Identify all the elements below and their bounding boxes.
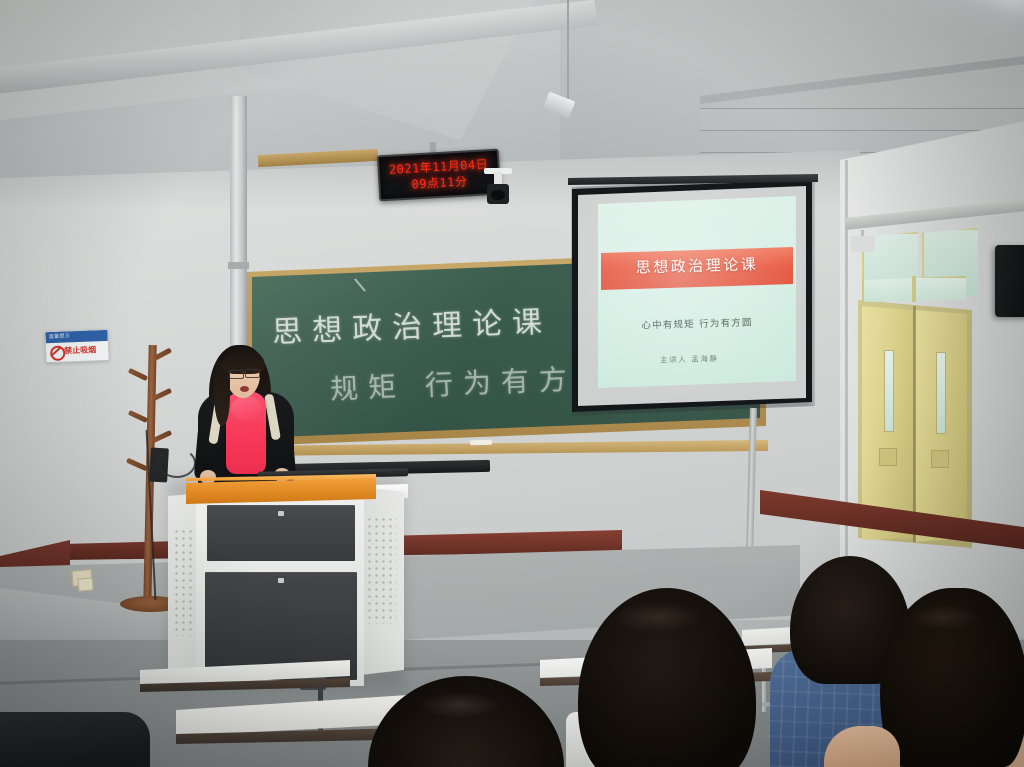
door-glass-right <box>936 352 946 434</box>
lecturer-glasses-bridge <box>242 372 246 373</box>
sign-label: 禁止吸烟 <box>64 344 96 356</box>
lecturer-scarf-knot <box>231 396 261 420</box>
led-date-time-display: 2021年11月04日 09点11分 <box>377 149 501 202</box>
chalk-piece <box>470 440 492 446</box>
lecturer-glasses-right-lens <box>245 369 260 378</box>
no-smoking-sign: 温馨提示 禁止吸烟 <box>44 329 109 363</box>
light-hanger-rod <box>567 0 569 100</box>
led-time-line: 09点11分 <box>411 173 468 192</box>
podium-upper-knob[interactable] <box>278 511 284 516</box>
door-center-seam <box>913 306 916 542</box>
hair-highlight <box>908 604 980 630</box>
camera-lens <box>491 190 505 200</box>
classroom-photo: 思想政治理论课 规矩 行为有方圆 2021年11月04日 09点11分 温馨提示… <box>0 0 1024 767</box>
ceiling-projector <box>851 236 875 252</box>
door-glass-left <box>884 350 894 432</box>
door-panel-right <box>931 450 949 468</box>
podium-lower-knob[interactable] <box>278 578 284 583</box>
wall-outlet-face <box>77 577 93 591</box>
door-transom-mullion <box>912 276 916 302</box>
podium-speaker-grille <box>359 516 397 624</box>
student-shoulder-left <box>0 712 150 767</box>
podium-upper-door[interactable] <box>207 505 355 561</box>
door-panel-left <box>879 448 897 466</box>
sign-header-text: 温馨提示 <box>48 332 70 340</box>
lecturer-mouth <box>240 386 249 392</box>
hair-highlight <box>612 602 702 632</box>
wall-speaker <box>995 245 1024 317</box>
cable-loop <box>158 448 196 478</box>
pipe-band <box>228 262 249 269</box>
sign-header-bar: 温馨提示 <box>45 330 107 343</box>
hair-highlight <box>420 692 500 718</box>
